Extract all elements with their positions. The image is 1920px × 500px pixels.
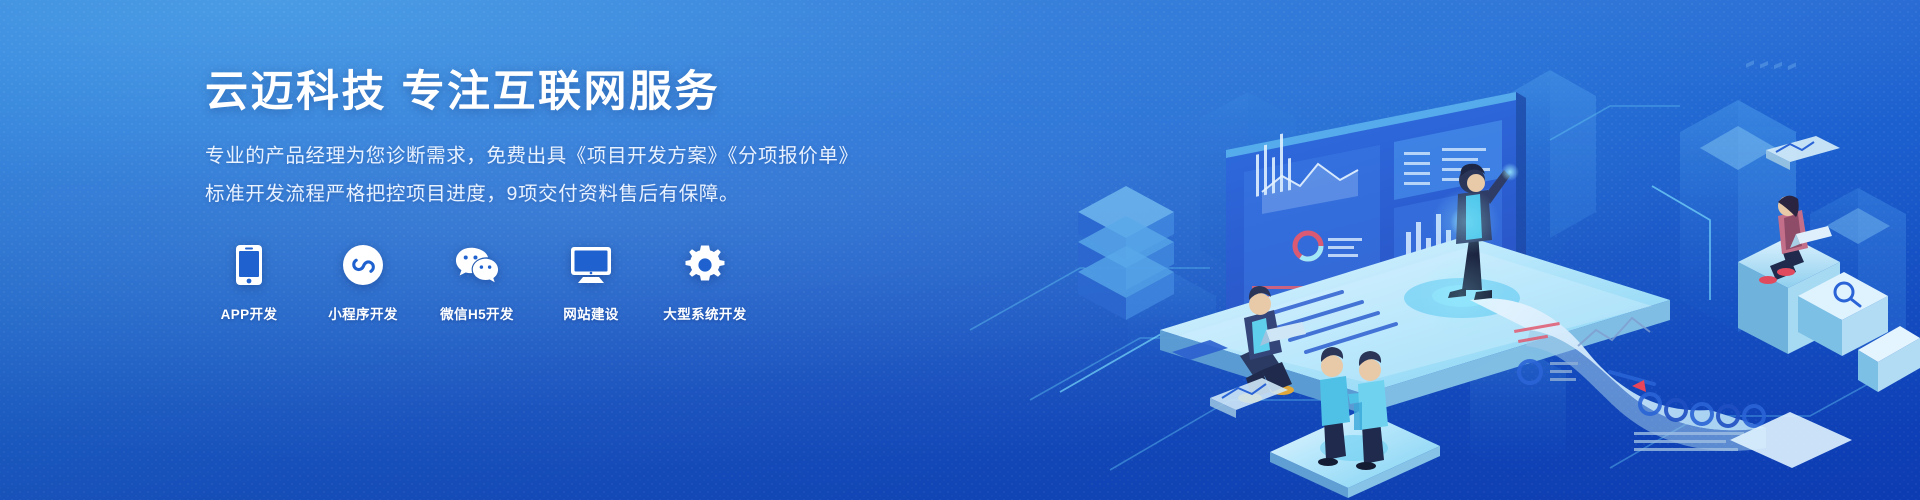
service-label: 网站建设 (563, 303, 619, 323)
person-standing-pointing (1448, 163, 1519, 300)
service-label: 小程序开发 (328, 303, 398, 323)
search-cube (1798, 272, 1888, 356)
service-item-large-system[interactable]: 大型系统开发 (661, 243, 749, 323)
mini-program-icon (341, 243, 385, 287)
service-label: APP开发 (221, 303, 278, 323)
floating-mini-card (1210, 378, 1288, 418)
hero-banner: 云迈科技 专注互联网服务 专业的产品经理为您诊断需求，免费出具《项目开发方案》《… (0, 0, 1920, 500)
data-ribbon (1470, 299, 1766, 451)
network-lines-bright (1060, 186, 1710, 392)
hero-copy: 云迈科技 专注互联网服务 专业的产品经理为您诊断需求，免费出具《项目开发方案》《… (205, 66, 925, 323)
hero-subtitle: 专业的产品经理为您诊断需求，免费出具《项目开发方案》《分项报价单》 标准开发流程… (205, 138, 925, 213)
desktop-monitor-icon (569, 243, 613, 287)
service-list: APP开发 小程序开发 (205, 243, 925, 323)
service-item-app[interactable]: APP开发 (205, 243, 293, 323)
person-on-pedestal-laptop (1738, 136, 1840, 354)
small-cube (1858, 326, 1920, 392)
person-sitting-laptop (1238, 286, 1306, 403)
mobile-phone-icon (227, 243, 271, 287)
server-stack (1078, 186, 1174, 320)
service-item-wechat-h5[interactable]: 微信H5开发 (433, 243, 521, 323)
dashboard-screen (1226, 92, 1526, 348)
gear-icon (683, 243, 727, 287)
two-people-talking (1270, 347, 1440, 498)
hero-illustration (910, 0, 1920, 500)
grid-panel (1730, 60, 1852, 468)
service-label: 微信H5开发 (440, 303, 514, 323)
page-title: 云迈科技 专注互联网服务 (205, 66, 925, 118)
service-label: 大型系统开发 (663, 303, 746, 323)
subtitle-line-2: 标准开发流程严格把控项目进度，9项交付资料售后有保障。 (205, 176, 925, 213)
service-item-website[interactable]: 网站建设 (547, 243, 635, 323)
tablet-platform (1160, 236, 1670, 414)
isometric-buildings (1128, 70, 1906, 478)
wechat-icon (455, 243, 499, 287)
service-item-mini-program[interactable]: 小程序开发 (319, 243, 407, 323)
network-lines (970, 106, 1890, 470)
subtitle-line-1: 专业的产品经理为您诊断需求，免费出具《项目开发方案》《分项报价单》 (205, 138, 925, 175)
